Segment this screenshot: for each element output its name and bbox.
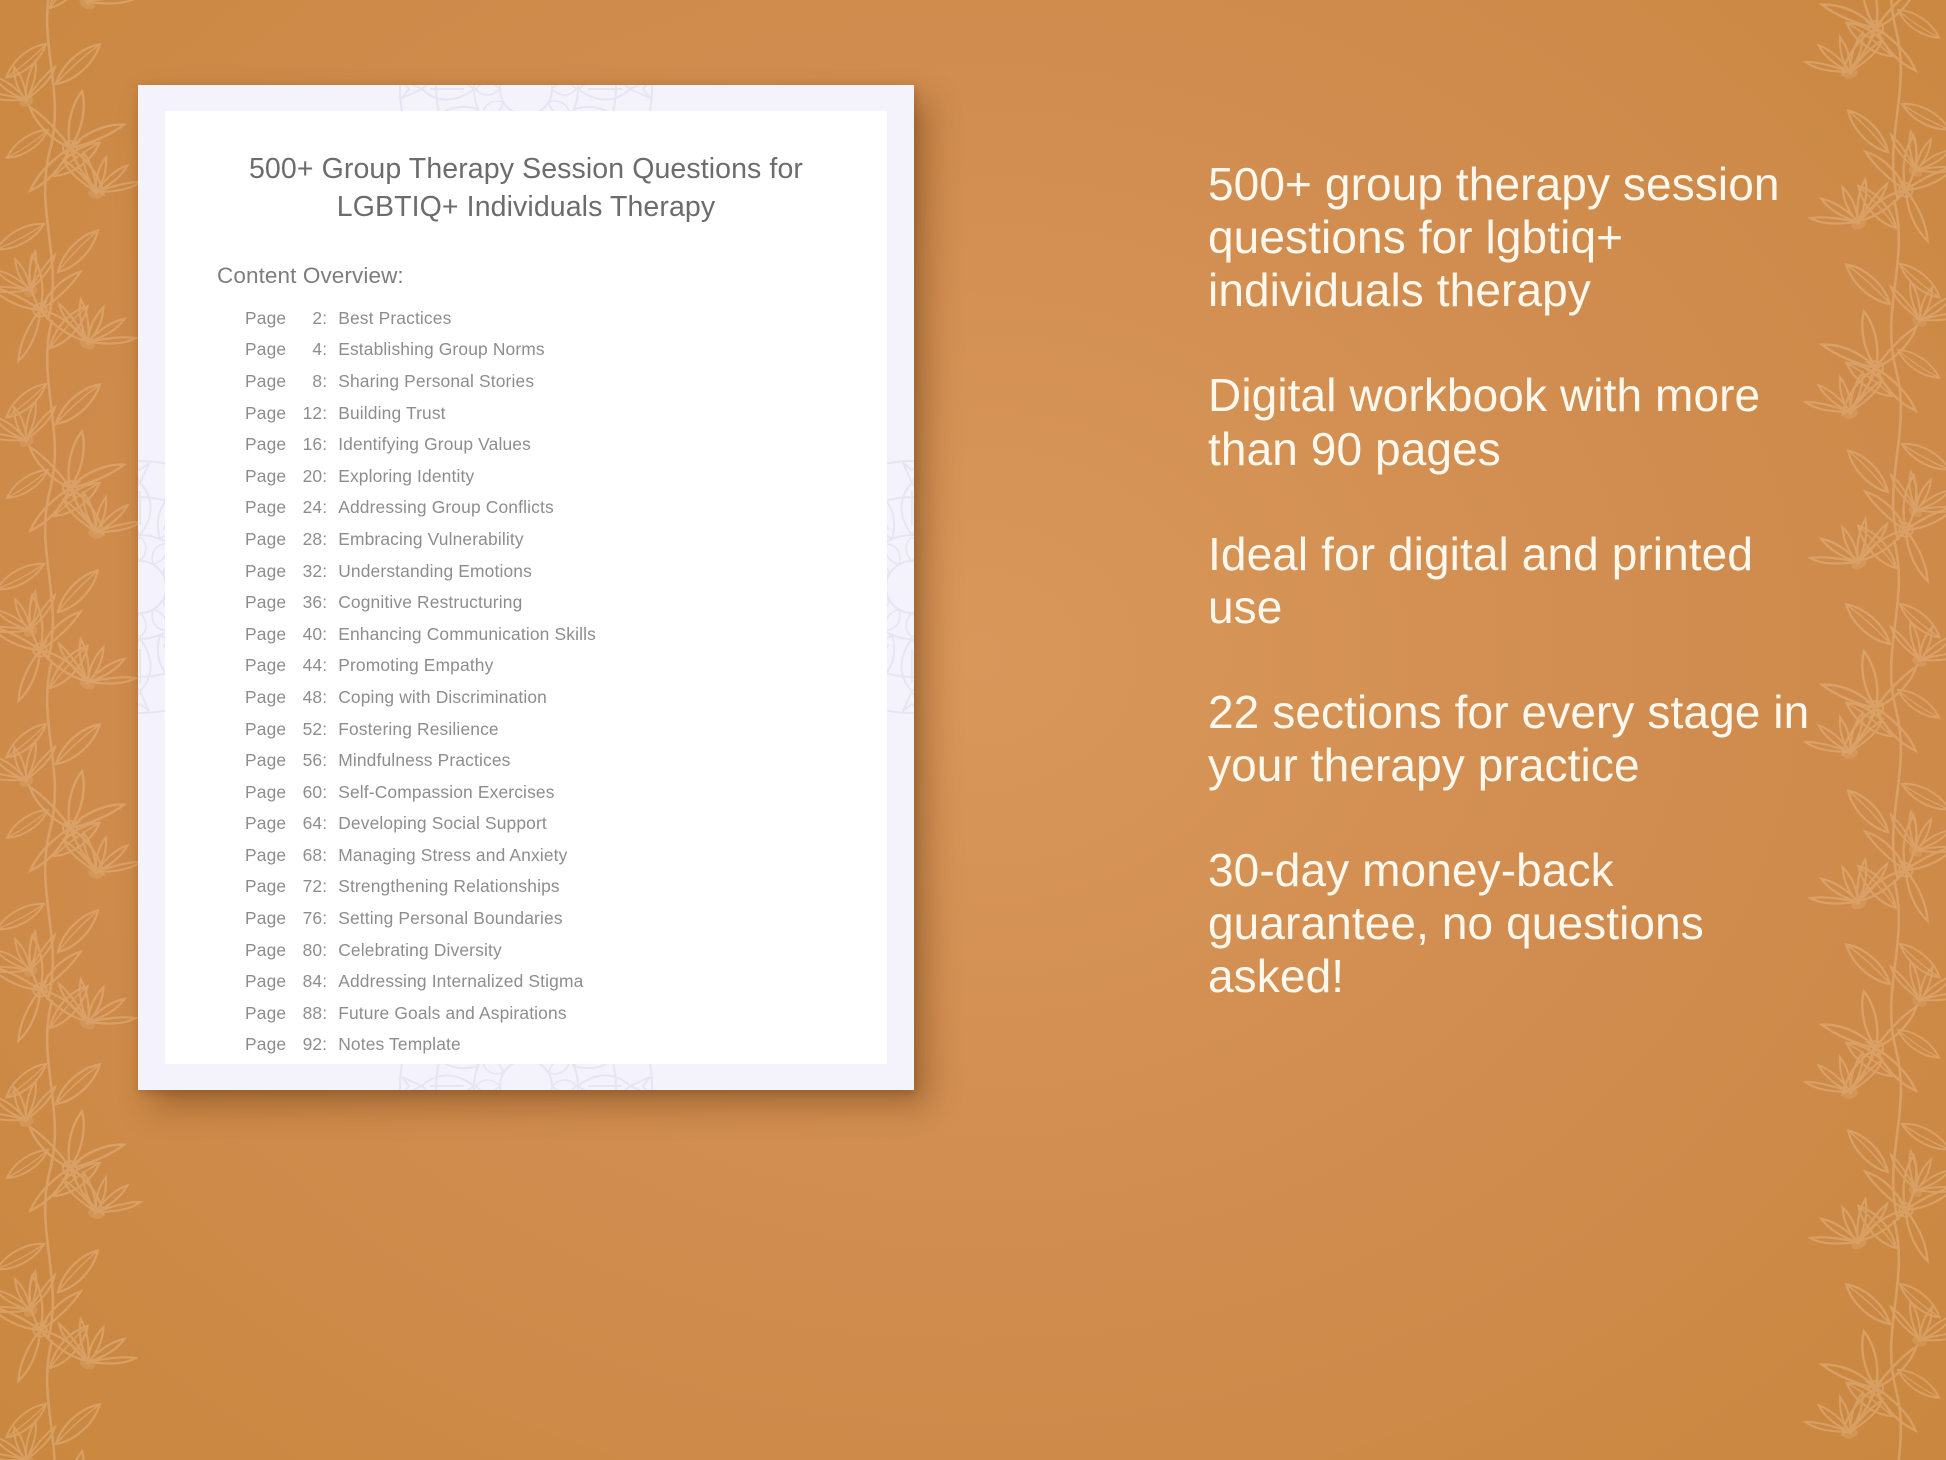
toc-page-number: 72 <box>292 876 322 897</box>
toc-row: Page24:Addressing Group Conflicts <box>245 497 887 529</box>
toc-section-title: Setting Personal Boundaries <box>338 908 562 929</box>
toc-page-number: 44 <box>292 655 322 676</box>
toc-colon: : <box>322 1003 327 1024</box>
marketing-bullet: 22 sections for every stage in your ther… <box>1208 686 1828 792</box>
toc-page-number: 88 <box>292 1003 322 1024</box>
toc-row: Page52:Fostering Resilience <box>245 719 887 751</box>
toc-section-title: Strengthening Relationships <box>338 876 560 897</box>
toc-page-number: 60 <box>292 782 322 803</box>
toc-page-word: Page <box>245 876 286 897</box>
toc-page-word: Page <box>245 466 286 487</box>
toc-row: Page12:Building Trust <box>245 403 887 435</box>
toc-page-number: 24 <box>292 497 322 518</box>
toc-page-word: Page <box>245 655 286 676</box>
toc-section-title: Future Goals and Aspirations <box>338 1003 566 1024</box>
toc-section-title: Fostering Resilience <box>338 719 499 740</box>
toc-colon: : <box>322 655 327 676</box>
toc-section-title: Managing Stress and Anxiety <box>338 845 567 866</box>
toc-row: Page16:Identifying Group Values <box>245 434 887 466</box>
marketing-bullet: 500+ group therapy session questions for… <box>1208 158 1828 317</box>
toc-row: Page88:Future Goals and Aspirations <box>245 1003 887 1035</box>
toc-row: Page64:Developing Social Support <box>245 813 887 845</box>
toc-colon: : <box>322 434 327 455</box>
toc-section-title: Establishing Group Norms <box>338 339 545 360</box>
toc-colon: : <box>322 561 327 582</box>
toc-colon: : <box>322 813 327 834</box>
toc-section-title: Best Practices <box>338 308 451 329</box>
toc-colon: : <box>322 624 327 645</box>
toc-row: Page68:Managing Stress and Anxiety <box>245 845 887 877</box>
content-overview-heading: Content Overview: <box>165 227 887 289</box>
toc-row: Page28:Embracing Vulnerability <box>245 529 887 561</box>
toc-section-title: Enhancing Communication Skills <box>338 624 596 645</box>
toc-page-word: Page <box>245 308 286 329</box>
toc-page-word: Page <box>245 1034 286 1055</box>
toc-section-title: Embracing Vulnerability <box>338 529 524 550</box>
toc-row: Page92:Notes Template <box>245 1034 887 1064</box>
toc-page-word: Page <box>245 561 286 582</box>
toc-page-word: Page <box>245 750 286 771</box>
marketing-copy-column: 500+ group therapy session questions for… <box>1208 158 1828 1004</box>
toc-page-word: Page <box>245 403 286 424</box>
table-of-contents-list: Page2:Best PracticesPage4:Establishing G… <box>165 289 887 1064</box>
marketing-bullet: Digital workbook with more than 90 pages <box>1208 369 1828 475</box>
workbook-page-sheet: 500+ Group Therapy Session Questions for… <box>165 111 887 1064</box>
toc-page-number: 56 <box>292 750 322 771</box>
toc-colon: : <box>322 308 327 329</box>
toc-page-number: 12 <box>292 403 322 424</box>
toc-colon: : <box>322 592 327 613</box>
toc-row: Page40:Enhancing Communication Skills <box>245 624 887 656</box>
toc-section-title: Understanding Emotions <box>338 561 532 582</box>
toc-page-number: 68 <box>292 845 322 866</box>
toc-row: Page80:Celebrating Diversity <box>245 940 887 972</box>
toc-page-number: 76 <box>292 908 322 929</box>
toc-colon: : <box>322 1034 327 1055</box>
toc-page-number: 64 <box>292 813 322 834</box>
toc-page-word: Page <box>245 940 286 961</box>
toc-page-number: 48 <box>292 687 322 708</box>
toc-page-number: 80 <box>292 940 322 961</box>
toc-section-title: Cognitive Restructuring <box>338 592 522 613</box>
toc-row: Page60:Self-Compassion Exercises <box>245 782 887 814</box>
toc-page-word: Page <box>245 529 286 550</box>
toc-page-number: 36 <box>292 592 322 613</box>
toc-page-number: 92 <box>292 1034 322 1055</box>
toc-section-title: Addressing Internalized Stigma <box>338 971 583 992</box>
toc-colon: : <box>322 908 327 929</box>
toc-row: Page76:Setting Personal Boundaries <box>245 908 887 940</box>
toc-colon: : <box>322 719 327 740</box>
toc-row: Page2:Best Practices <box>245 308 887 340</box>
marketing-bullet: Ideal for digital and printed use <box>1208 528 1828 634</box>
toc-row: Page56:Mindfulness Practices <box>245 750 887 782</box>
toc-colon: : <box>322 940 327 961</box>
toc-row: Page4:Establishing Group Norms <box>245 339 887 371</box>
toc-colon: : <box>322 403 327 424</box>
toc-page-number: 28 <box>292 529 322 550</box>
toc-page-word: Page <box>245 782 286 803</box>
toc-colon: : <box>322 371 327 392</box>
toc-section-title: Celebrating Diversity <box>338 940 502 961</box>
toc-section-title: Sharing Personal Stories <box>338 371 534 392</box>
toc-section-title: Coping with Discrimination <box>338 687 547 708</box>
toc-page-word: Page <box>245 971 286 992</box>
toc-colon: : <box>322 750 327 771</box>
toc-page-word: Page <box>245 592 286 613</box>
toc-page-number: 16 <box>292 434 322 455</box>
toc-page-number: 4 <box>292 339 322 360</box>
toc-page-word: Page <box>245 624 286 645</box>
toc-page-word: Page <box>245 908 286 929</box>
toc-colon: : <box>322 529 327 550</box>
toc-row: Page84:Addressing Internalized Stigma <box>245 971 887 1003</box>
toc-colon: : <box>322 339 327 360</box>
toc-page-word: Page <box>245 497 286 518</box>
toc-colon: : <box>322 845 327 866</box>
toc-colon: : <box>322 497 327 518</box>
toc-page-word: Page <box>245 687 286 708</box>
toc-section-title: Identifying Group Values <box>338 434 531 455</box>
toc-section-title: Mindfulness Practices <box>338 750 510 771</box>
toc-page-word: Page <box>245 1003 286 1024</box>
promo-stage: 500+ Group Therapy Session Questions for… <box>0 0 1946 1460</box>
toc-section-title: Developing Social Support <box>338 813 547 834</box>
toc-page-number: 40 <box>292 624 322 645</box>
toc-page-word: Page <box>245 371 286 392</box>
toc-page-number: 84 <box>292 971 322 992</box>
toc-page-word: Page <box>245 434 286 455</box>
toc-section-title: Addressing Group Conflicts <box>338 497 554 518</box>
toc-colon: : <box>322 687 327 708</box>
toc-section-title: Notes Template <box>338 1034 461 1055</box>
toc-page-number: 8 <box>292 371 322 392</box>
toc-row: Page8:Sharing Personal Stories <box>245 371 887 403</box>
toc-colon: : <box>322 971 327 992</box>
toc-page-number: 52 <box>292 719 322 740</box>
toc-colon: : <box>322 782 327 803</box>
toc-page-number: 2 <box>292 308 322 329</box>
page-title: 500+ Group Therapy Session Questions for… <box>165 111 887 227</box>
marketing-bullet: 30-day money-back guarantee, no question… <box>1208 844 1828 1003</box>
toc-row: Page32:Understanding Emotions <box>245 561 887 593</box>
toc-page-word: Page <box>245 339 286 360</box>
toc-page-word: Page <box>245 719 286 740</box>
toc-row: Page36:Cognitive Restructuring <box>245 592 887 624</box>
toc-page-word: Page <box>245 813 286 834</box>
toc-section-title: Building Trust <box>338 403 445 424</box>
toc-row: Page72:Strengthening Relationships <box>245 876 887 908</box>
toc-row: Page44:Promoting Empathy <box>245 655 887 687</box>
toc-colon: : <box>322 876 327 897</box>
toc-row: Page20:Exploring Identity <box>245 466 887 498</box>
toc-page-number: 20 <box>292 466 322 487</box>
workbook-preview-card: 500+ Group Therapy Session Questions for… <box>138 85 914 1090</box>
toc-section-title: Exploring Identity <box>338 466 474 487</box>
toc-row: Page48:Coping with Discrimination <box>245 687 887 719</box>
toc-section-title: Promoting Empathy <box>338 655 493 676</box>
toc-page-word: Page <box>245 845 286 866</box>
toc-page-number: 32 <box>292 561 322 582</box>
toc-section-title: Self-Compassion Exercises <box>338 782 554 803</box>
toc-colon: : <box>322 466 327 487</box>
